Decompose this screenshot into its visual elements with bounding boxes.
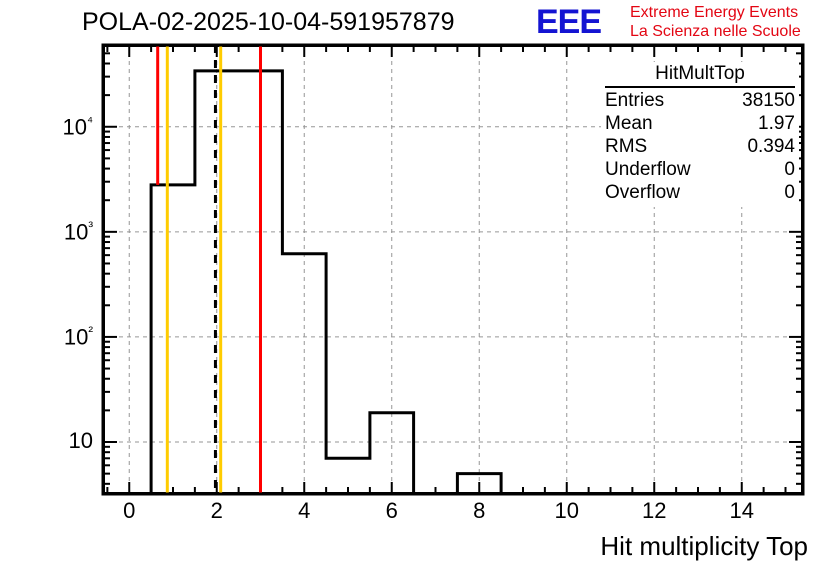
- stats-row-value: 38150: [742, 89, 795, 112]
- stats-row-value: 0: [784, 181, 795, 204]
- x-tick-label: 6: [362, 498, 422, 524]
- y-tick-label: 10³: [23, 218, 93, 245]
- x-tick-label: 0: [99, 498, 159, 524]
- stats-row-key: Entries: [605, 89, 664, 112]
- stats-row-value: 1.97: [758, 112, 795, 135]
- x-axis-title: Hit multiplicity Top: [600, 531, 808, 562]
- stats-row-value: 0: [784, 158, 795, 181]
- root-canvas: POLA-02-2025-10-04-591957879 EEE EEE Ext…: [0, 0, 836, 572]
- stats-row: Underflow0: [605, 158, 795, 181]
- stats-row-key: Overflow: [605, 181, 680, 204]
- marker-lines: [158, 45, 261, 494]
- stats-row: Mean1.97: [605, 112, 795, 135]
- stats-row-key: Underflow: [605, 158, 691, 181]
- stats-row: RMS0.394: [605, 135, 795, 158]
- x-tick-label: 14: [712, 498, 772, 524]
- stats-row: Overflow0: [605, 181, 795, 204]
- stats-row: Entries38150: [605, 89, 795, 112]
- histogram-outline: [151, 71, 501, 494]
- x-tick-label: 8: [449, 498, 509, 524]
- stats-row-value: 0.394: [747, 135, 795, 158]
- stats-box: HitMultTop Entries38150Mean1.97RMS0.394U…: [601, 62, 799, 207]
- x-tick-label: 4: [274, 498, 334, 524]
- stats-row-key: Mean: [605, 112, 653, 135]
- stats-box-rows: Entries38150Mean1.97RMS0.394Underflow0Ov…: [605, 89, 795, 204]
- y-tick-label: 10²: [23, 323, 93, 350]
- y-tick-label: 10: [23, 428, 93, 454]
- x-tick-label: 12: [624, 498, 684, 524]
- x-tick-label: 10: [537, 498, 597, 524]
- y-tick-label: 10⁴: [23, 113, 93, 140]
- stats-row-key: RMS: [605, 135, 647, 158]
- x-tick-label: 2: [187, 498, 247, 524]
- stats-box-title: HitMultTop: [605, 63, 795, 88]
